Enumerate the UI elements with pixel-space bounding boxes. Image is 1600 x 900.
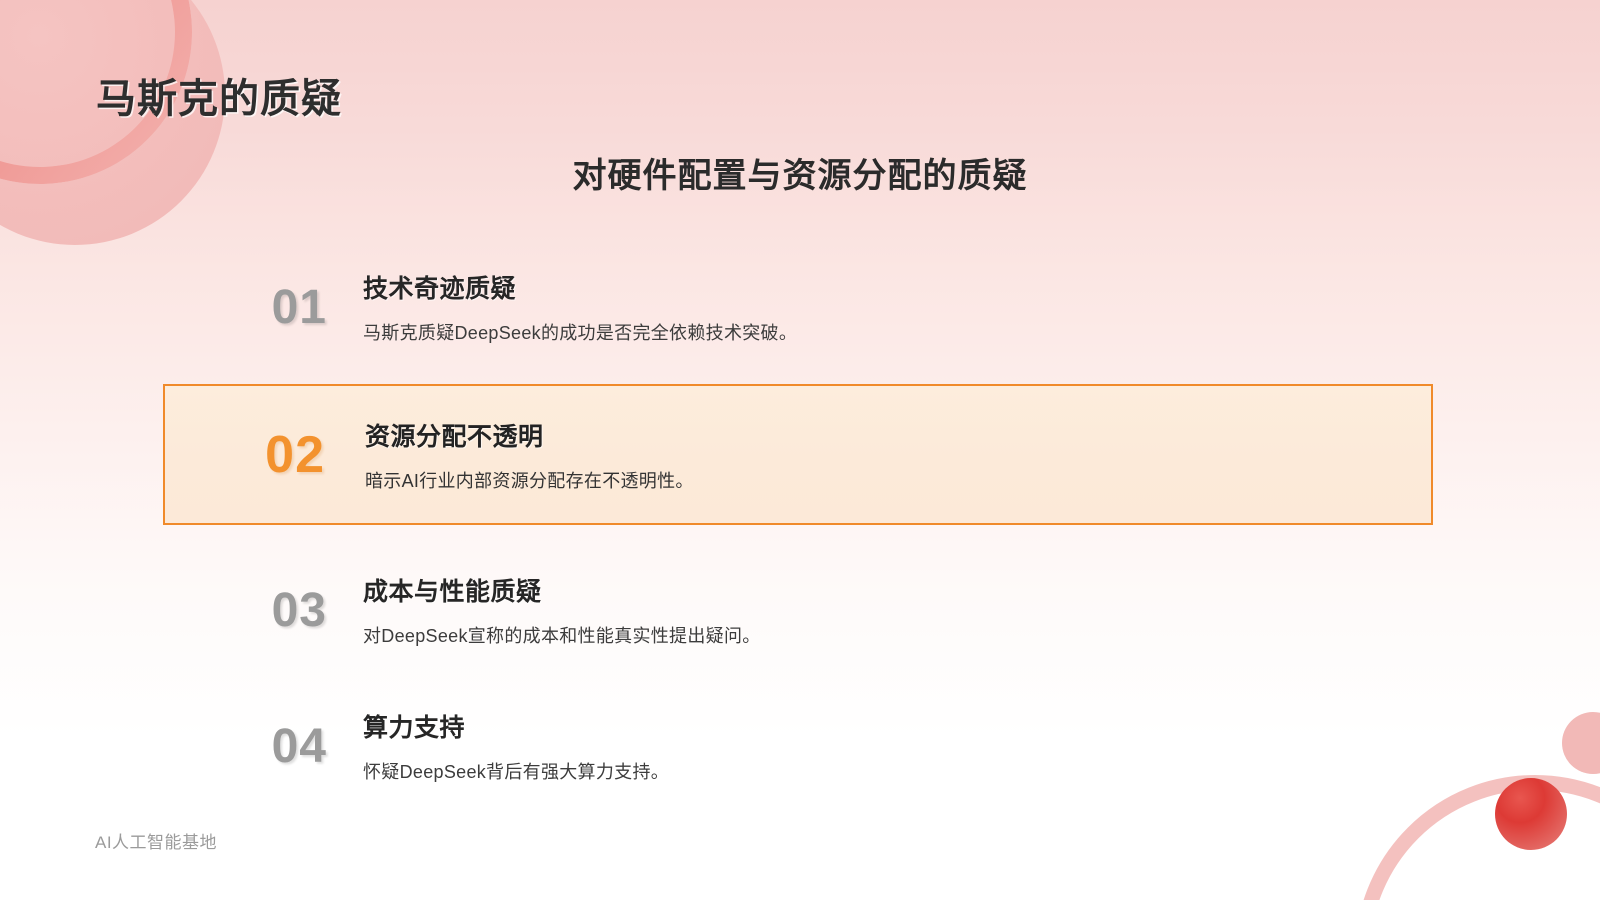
item-number: 04	[163, 719, 363, 774]
item-number: 03	[163, 583, 363, 638]
footer-brand: AI人工智能基地	[95, 828, 217, 853]
section-heading: 对硬件配置与资源分配的质疑	[0, 148, 1600, 197]
item-title: 资源分配不透明	[365, 417, 1431, 453]
list-item[interactable]: 01 技术奇迹质疑 马斯克质疑DeepSeek的成功是否完全依赖技术突破。	[0, 248, 1600, 366]
questions-list: 01 技术奇迹质疑 马斯克质疑DeepSeek的成功是否完全依赖技术突破。 02…	[0, 248, 1600, 805]
item-title: 算力支持	[363, 708, 1600, 744]
item-title: 技术奇迹质疑	[363, 269, 1600, 305]
item-body: 资源分配不透明 暗示AI行业内部资源分配存在不透明性。	[365, 417, 1431, 493]
list-spacer	[0, 366, 1600, 384]
item-description: 对DeepSeek宣称的成本和性能真实性提出疑问。	[363, 622, 1600, 648]
list-spacer	[0, 669, 1600, 687]
item-body: 成本与性能质疑 对DeepSeek宣称的成本和性能真实性提出疑问。	[363, 572, 1600, 648]
list-item-highlighted[interactable]: 02 资源分配不透明 暗示AI行业内部资源分配存在不透明性。	[163, 384, 1433, 525]
list-item[interactable]: 03 成本与性能质疑 对DeepSeek宣称的成本和性能真实性提出疑问。	[0, 551, 1600, 669]
item-title: 成本与性能质疑	[363, 572, 1600, 608]
list-spacer	[0, 525, 1600, 551]
item-body: 算力支持 怀疑DeepSeek背后有强大算力支持。	[363, 708, 1600, 784]
list-item[interactable]: 04 算力支持 怀疑DeepSeek背后有强大算力支持。	[0, 687, 1600, 805]
item-number: 01	[163, 280, 363, 335]
item-number: 02	[165, 425, 365, 485]
item-description: 马斯克质疑DeepSeek的成功是否完全依赖技术突破。	[363, 319, 1600, 345]
slide-canvas: 马斯克的质疑 对硬件配置与资源分配的质疑 01 技术奇迹质疑 马斯克质疑Deep…	[0, 0, 1600, 900]
item-body: 技术奇迹质疑 马斯克质疑DeepSeek的成功是否完全依赖技术突破。	[363, 269, 1600, 345]
item-description: 暗示AI行业内部资源分配存在不透明性。	[365, 467, 1431, 493]
page-title: 马斯克的质疑	[96, 66, 342, 124]
item-description: 怀疑DeepSeek背后有强大算力支持。	[363, 758, 1600, 784]
